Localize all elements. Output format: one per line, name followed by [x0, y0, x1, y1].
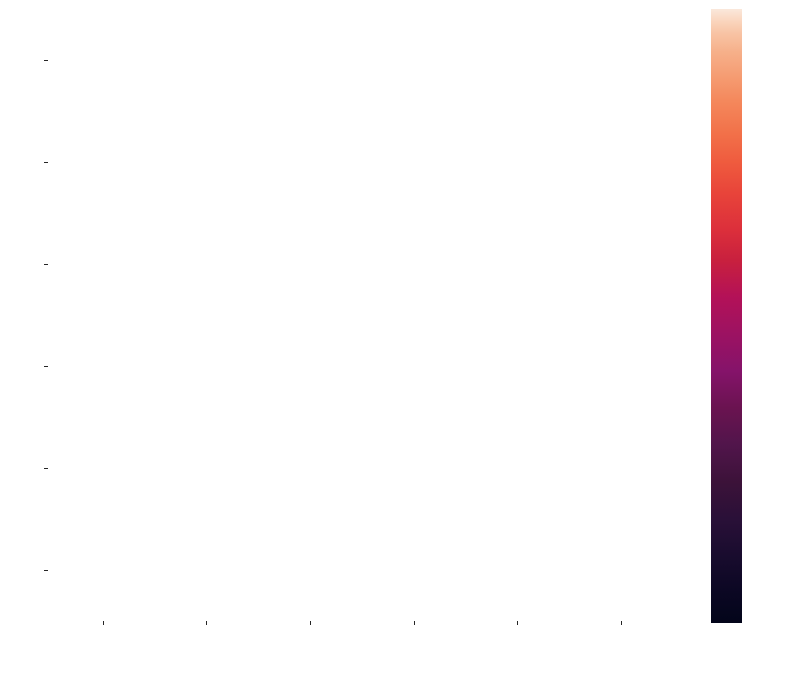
x-tick-1: [155, 621, 259, 643]
y-tick-mark-0: [44, 60, 48, 61]
confusion-matrix-figure: [0, 0, 797, 679]
heatmap-plot-area: [51, 9, 673, 621]
y-tick-1: [0, 111, 44, 213]
x-tick-2: [258, 621, 362, 643]
y-tick-mark-5: [44, 570, 48, 571]
y-tick-3: [0, 315, 44, 417]
x-axis-tick-labels: [51, 621, 673, 643]
x-tick-mark-3: [414, 621, 415, 625]
y-tick-5: [0, 519, 44, 621]
colorbar-tick-labels: [711, 9, 797, 623]
x-tick-3: [362, 621, 466, 643]
x-tick-mark-1: [206, 621, 207, 625]
heatmap-cell-grid: [51, 9, 673, 621]
x-tick-mark-4: [517, 621, 518, 625]
x-tick-0: [51, 621, 155, 643]
y-tick-mark-2: [44, 264, 48, 265]
y-tick-4: [0, 417, 44, 519]
x-tick-mark-2: [310, 621, 311, 625]
y-tick-mark-4: [44, 468, 48, 469]
y-axis-tick-labels: [0, 9, 44, 621]
y-tick-0: [0, 9, 44, 111]
y-tick-mark-1: [44, 162, 48, 163]
x-tick-5: [569, 621, 673, 643]
y-tick-mark-3: [44, 366, 48, 367]
x-tick-mark-5: [621, 621, 622, 625]
y-tick-2: [0, 213, 44, 315]
x-tick-mark-0: [103, 621, 104, 625]
x-tick-4: [466, 621, 570, 643]
